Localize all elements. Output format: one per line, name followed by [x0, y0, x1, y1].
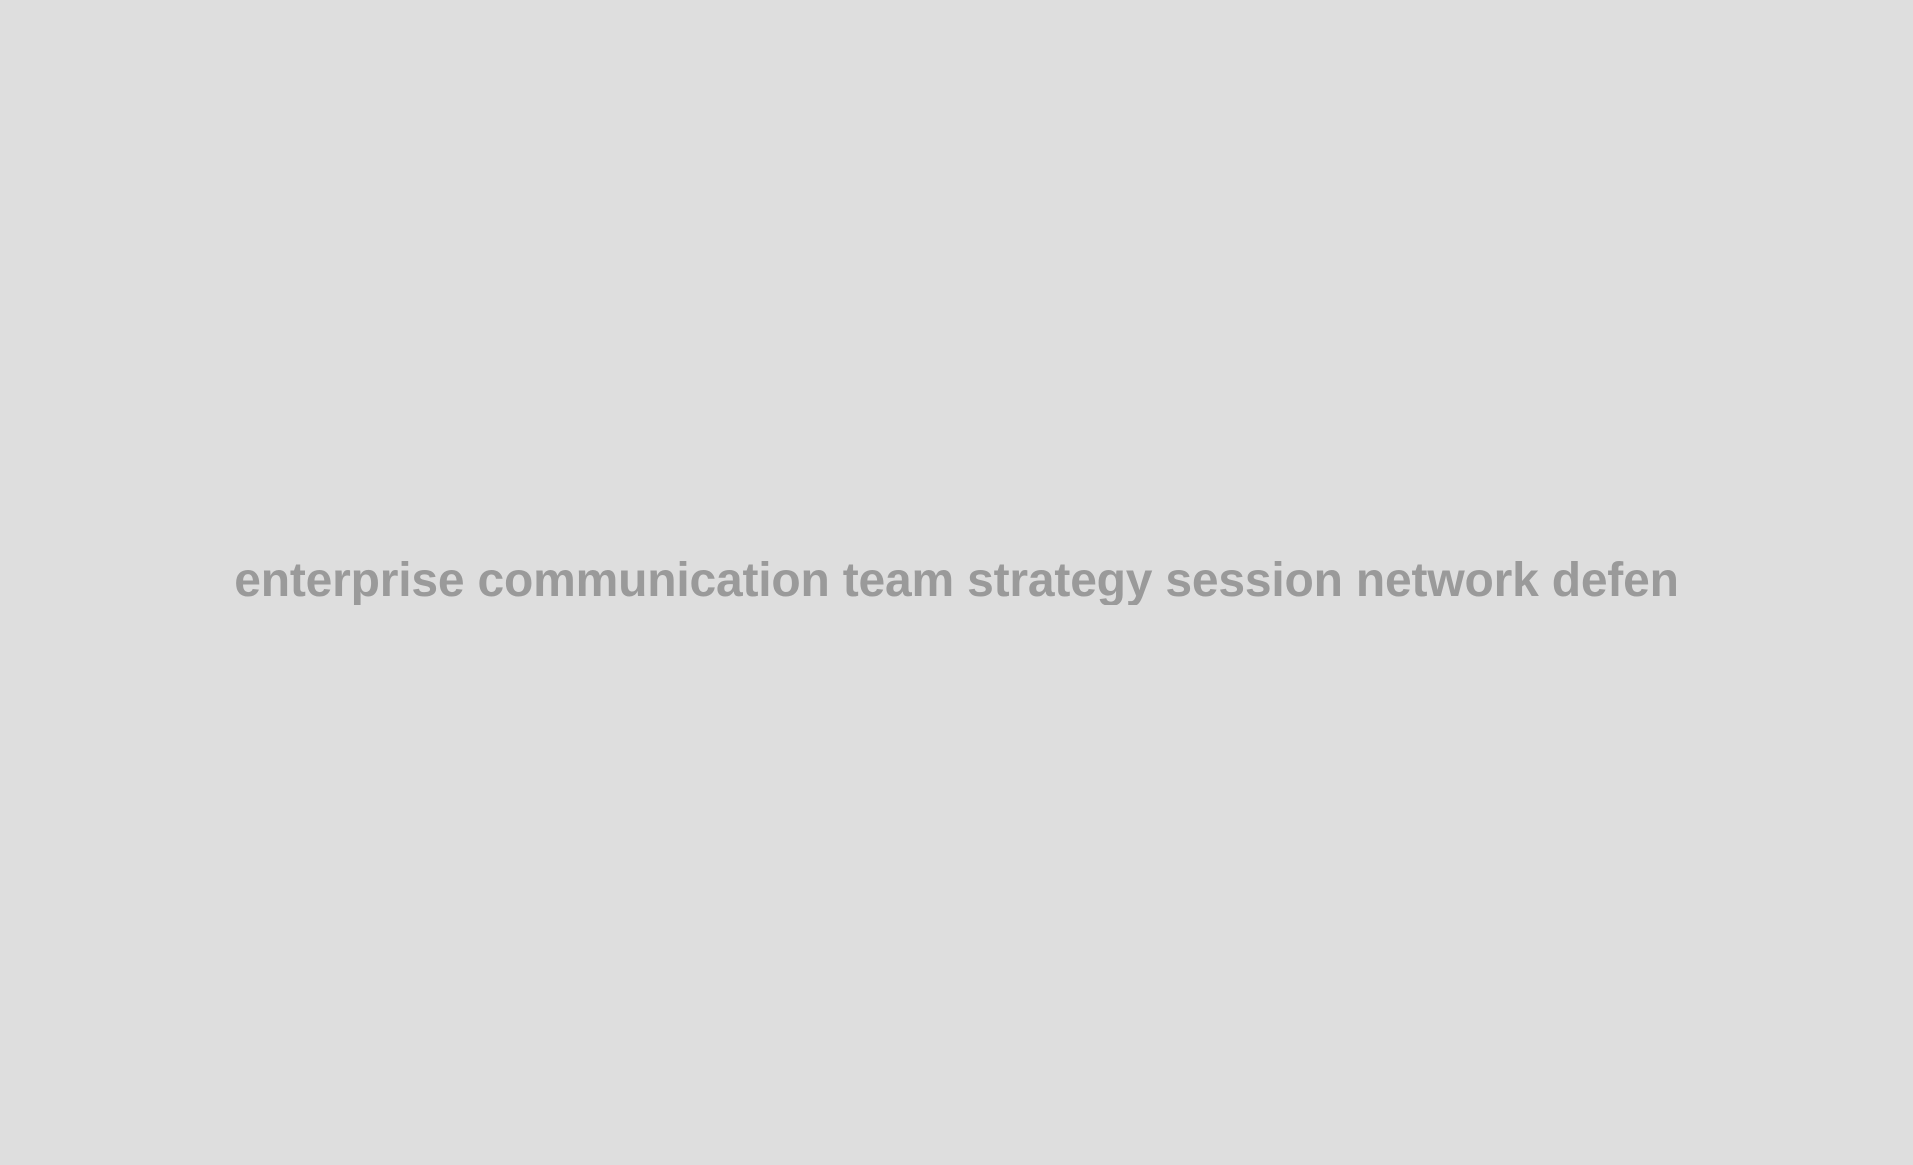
placeholder-text: enterprise communication team strategy s… — [0, 557, 1913, 605]
placeholder-canvas: enterprise communication team strategy s… — [0, 0, 1913, 1165]
